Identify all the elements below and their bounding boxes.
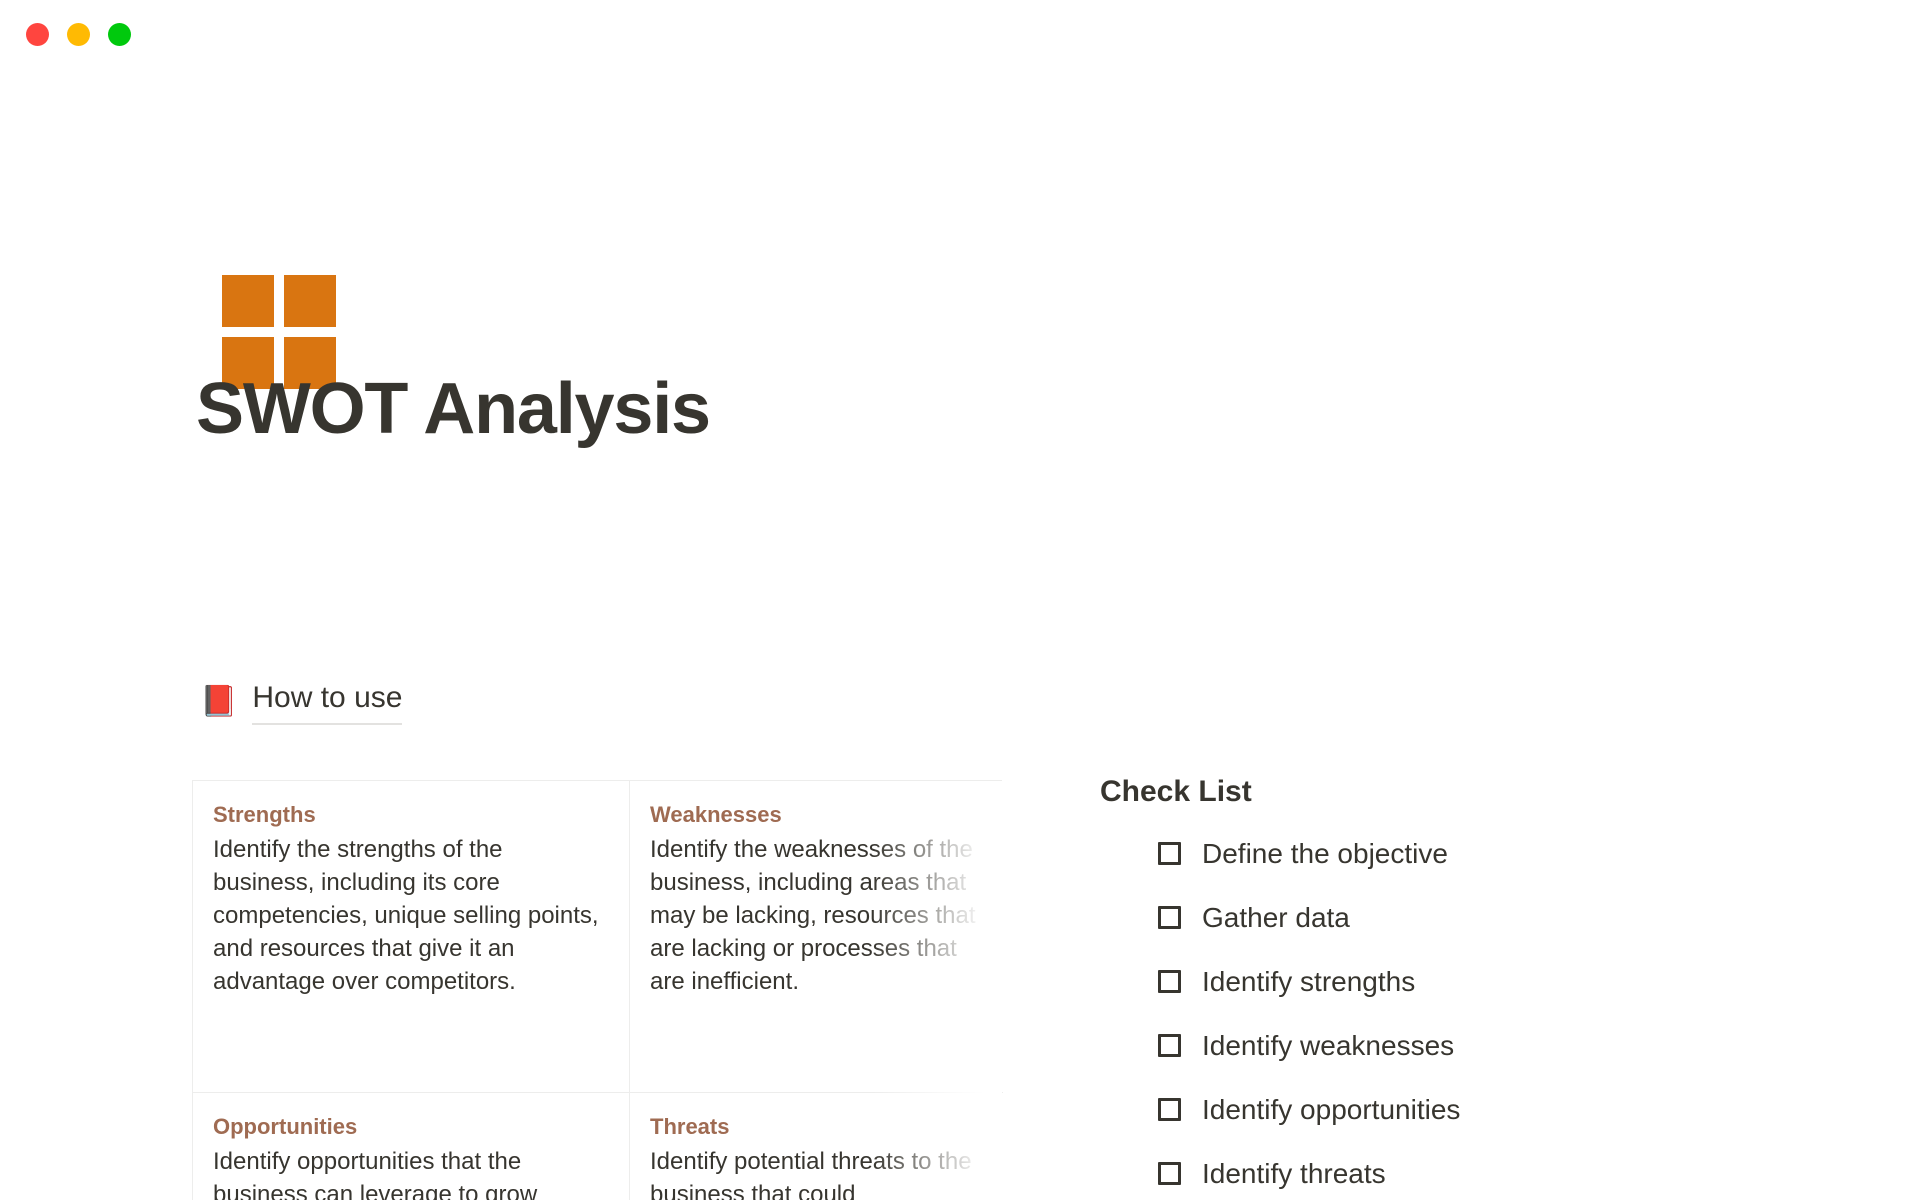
swot-cell-opportunities[interactable]: Opportunities Identify opportunities tha…	[193, 1093, 629, 1200]
swot-cell-title: Opportunities	[213, 1111, 609, 1143]
checkbox-icon[interactable]	[1158, 1098, 1181, 1121]
swot-cell-title: Strengths	[213, 799, 609, 831]
swot-cell-title: Threats	[650, 1111, 983, 1143]
checklist-title: Check List	[1100, 774, 1800, 810]
checkbox-icon[interactable]	[1158, 1034, 1181, 1057]
checklist-item-label: Gather data	[1202, 900, 1350, 935]
swot-row-divider	[193, 1092, 1003, 1093]
checkbox-icon[interactable]	[1158, 906, 1181, 929]
checklist-item-label: Identify threats	[1202, 1156, 1386, 1191]
checkbox-icon[interactable]	[1158, 1162, 1181, 1185]
checkbox-icon[interactable]	[1158, 842, 1181, 865]
checklist-item[interactable]: Identify weaknesses	[1158, 1024, 1800, 1066]
checklist-item-label: Identify weaknesses	[1202, 1028, 1454, 1063]
checklist-item[interactable]: Identify opportunities	[1158, 1088, 1800, 1130]
how-to-use-label: How to use	[252, 679, 402, 725]
app-window: SWOT Analysis 📕 How to use Strengths Ide…	[0, 0, 1920, 1200]
swot-cell-body: Identify the weaknesses of the business,…	[650, 833, 983, 999]
checklist-item[interactable]: Identify threats	[1158, 1152, 1800, 1194]
swot-cell-threats[interactable]: Threats Identify potential threats to th…	[630, 1093, 1003, 1200]
swot-cell-body: Identify the strengths of the business, …	[213, 833, 609, 999]
swot-cell-strengths[interactable]: Strengths Identify the strengths of the …	[193, 781, 629, 1092]
logo-square-top-right	[284, 275, 336, 327]
checklist-item[interactable]: Define the objective	[1158, 832, 1800, 874]
how-to-use-link[interactable]: 📕 How to use	[200, 679, 402, 725]
swot-cell-title: Weaknesses	[650, 799, 983, 831]
swot-cell-body: Identify potential threats to the busine…	[650, 1145, 983, 1200]
closed-book-icon: 📕	[200, 687, 237, 717]
checklist-items: Define the objectiveGather dataIdentify …	[1100, 832, 1800, 1200]
close-window-button[interactable]	[26, 23, 49, 46]
maximize-window-button[interactable]	[108, 23, 131, 46]
checklist-item[interactable]: Gather data	[1158, 896, 1800, 938]
logo-square-top-left	[222, 275, 274, 327]
page-title: SWOT Analysis	[196, 370, 710, 449]
checklist-section: Check List Define the objectiveGather da…	[1100, 774, 1800, 1200]
checklist-item[interactable]: Identify strengths	[1158, 960, 1800, 1002]
checklist-item-label: Identify strengths	[1202, 964, 1415, 999]
minimize-window-button[interactable]	[67, 23, 90, 46]
swot-cell-weaknesses[interactable]: Weaknesses Identify the weaknesses of th…	[630, 781, 1003, 1092]
swot-column-divider	[629, 781, 630, 1200]
checklist-item-label: Define the objective	[1202, 836, 1448, 871]
document-page: SWOT Analysis 📕 How to use Strengths Ide…	[0, 68, 1920, 1200]
swot-cell-body: Identify opportunities that the business…	[213, 1145, 609, 1200]
window-titlebar	[0, 0, 1920, 68]
checklist-item-label: Identify opportunities	[1202, 1092, 1460, 1127]
window-traffic-lights	[26, 23, 131, 46]
swot-table: Strengths Identify the strengths of the …	[192, 780, 1002, 1200]
checkbox-icon[interactable]	[1158, 970, 1181, 993]
